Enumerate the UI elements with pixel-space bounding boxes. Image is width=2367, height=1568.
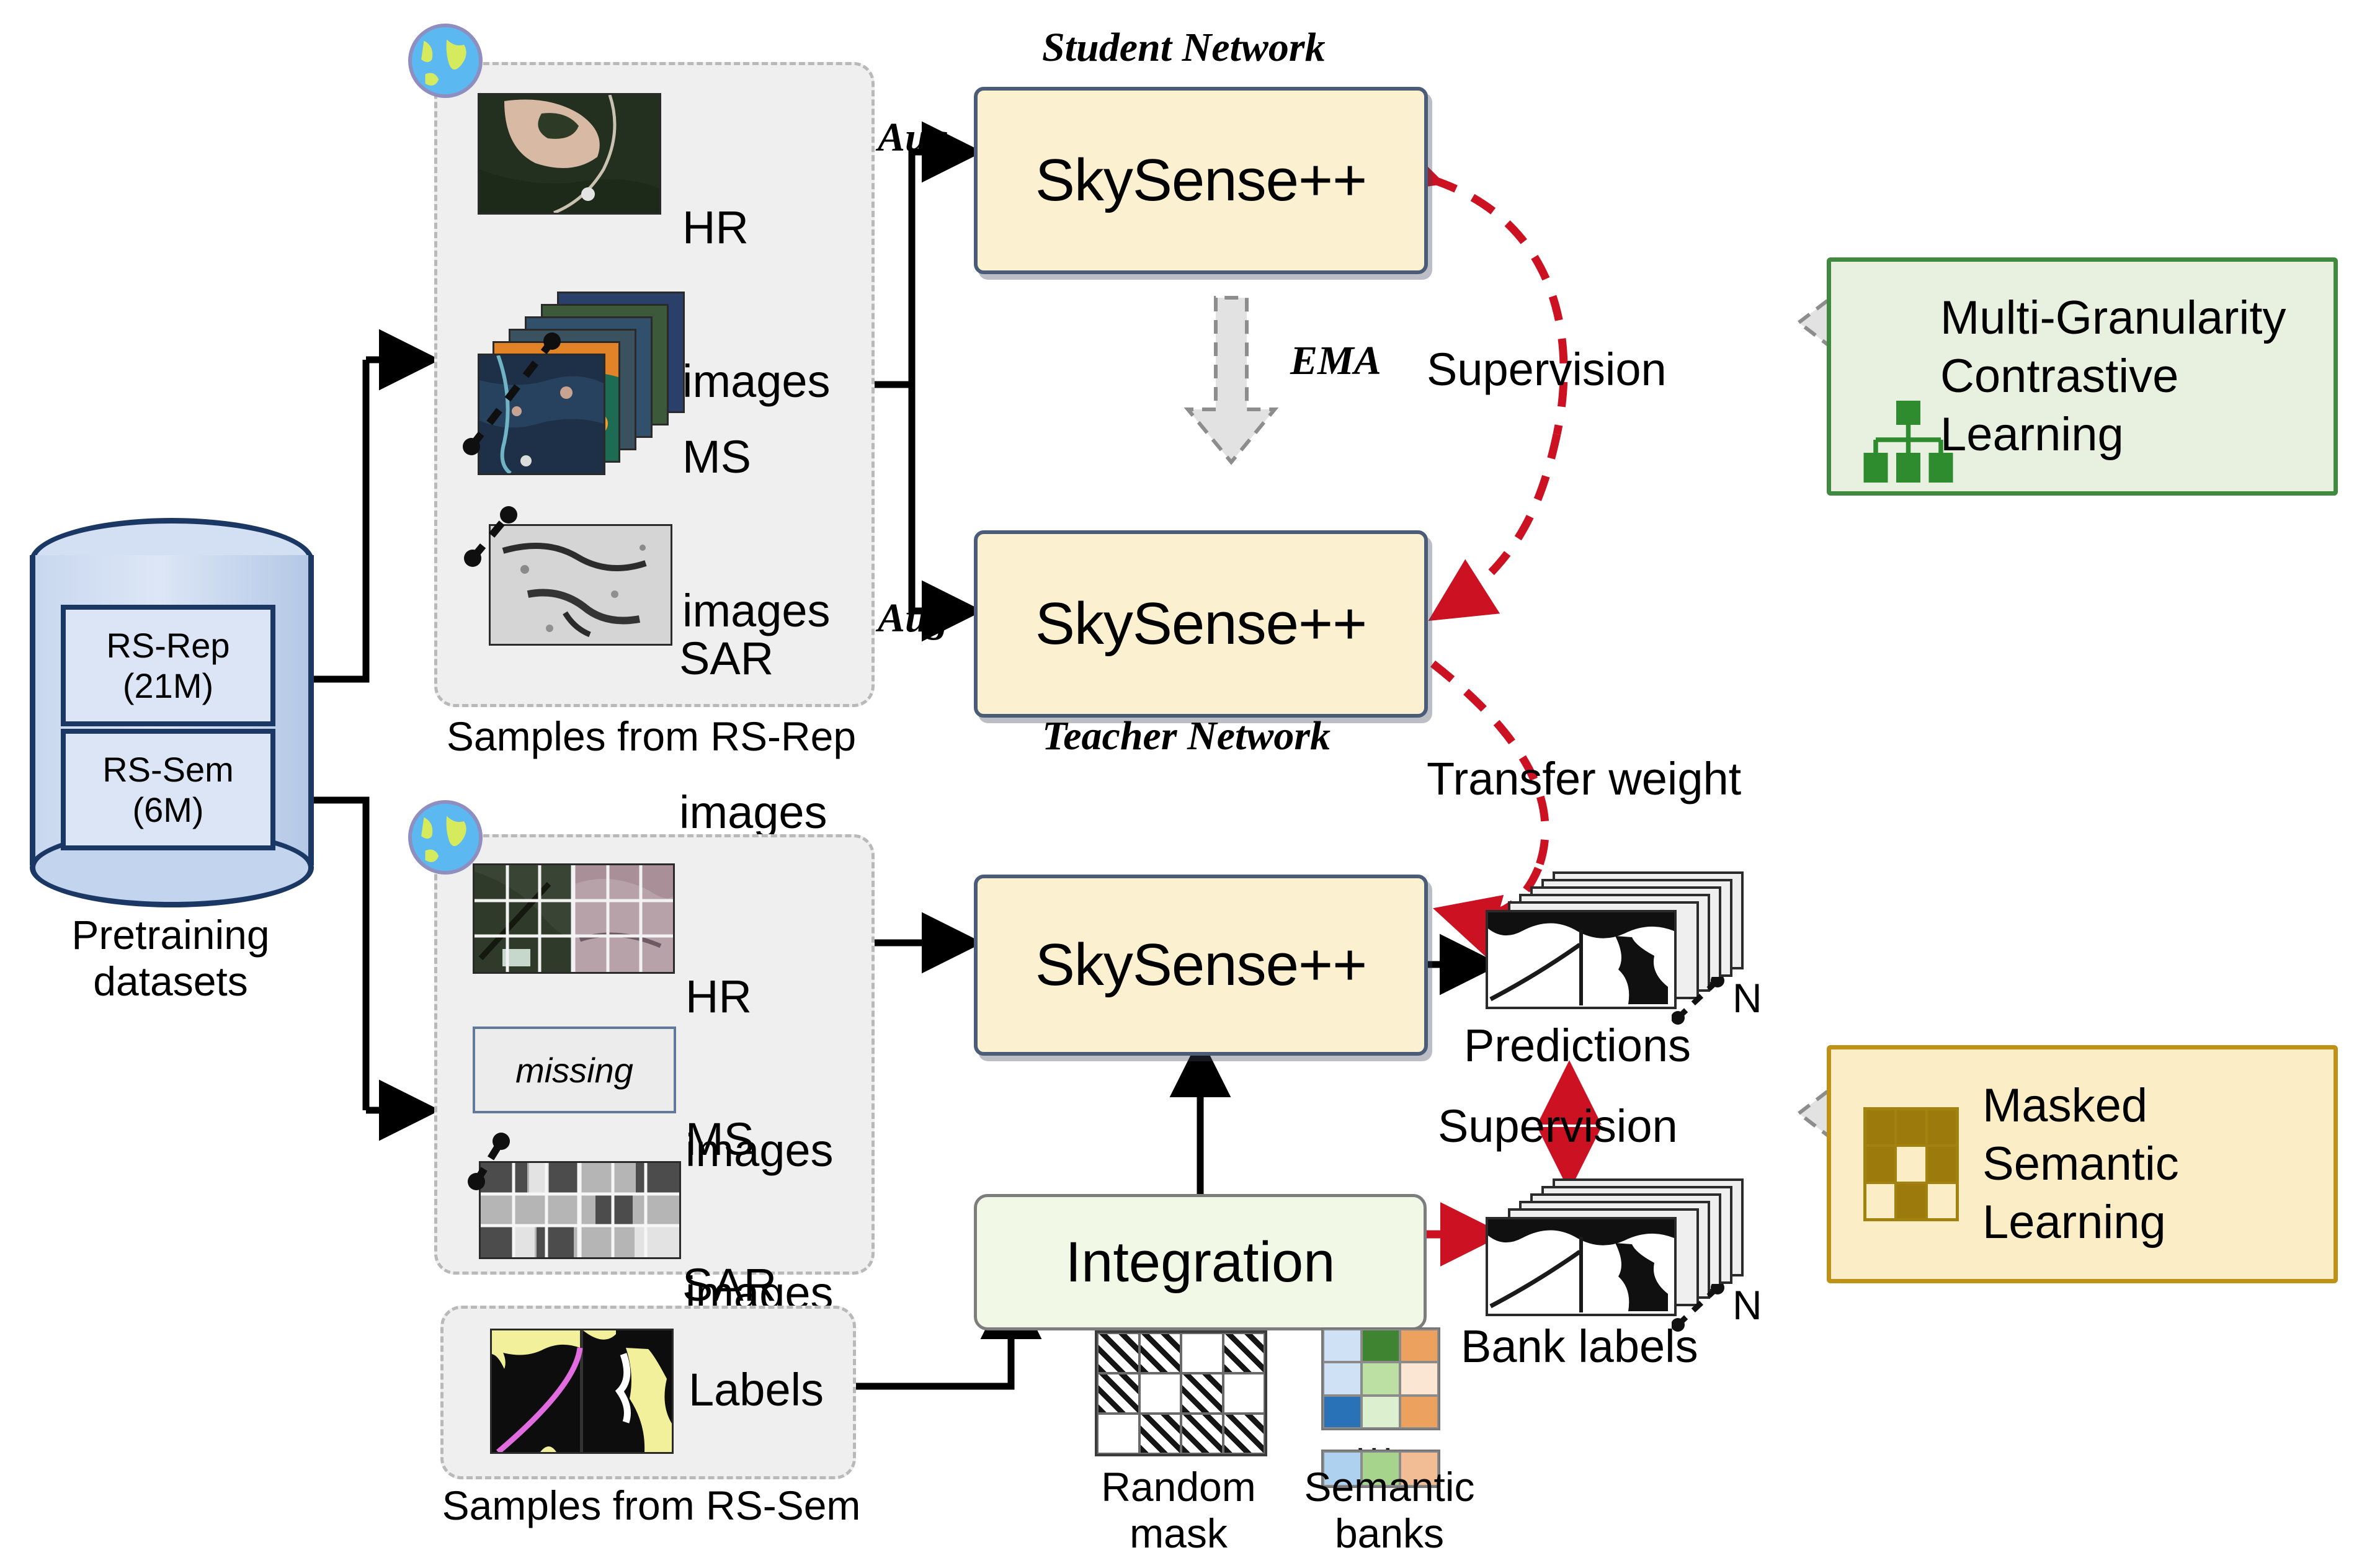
rs-sem-panel-caption: Samples from RS-Sem	[385, 1482, 918, 1529]
transfer-weight-label: Transfer weight	[1427, 754, 1741, 805]
dataset-name: RS-Rep	[106, 625, 230, 666]
dataset-name: RS-Sem	[102, 749, 234, 790]
semantic-banks-icon	[1321, 1327, 1440, 1430]
downstream-network-box[interactable]: SkySense++	[974, 875, 1428, 1056]
contrastive-module-label: Multi-Granularity Contrastive Learning	[1940, 289, 2286, 465]
teacher-box-label: SkySense++	[1035, 590, 1366, 658]
diagram-canvas: RS-Rep (21M) RS-Sem (6M) Pretraining dat…	[0, 0, 2367, 1563]
teacher-network-box[interactable]: SkySense++	[974, 530, 1428, 718]
student-box-label: SkySense++	[1035, 146, 1366, 215]
integration-box[interactable]: Integration	[974, 1194, 1427, 1330]
checkerboard-mask-icon	[1863, 1107, 1959, 1221]
bank-labels-label: Bank labels	[1461, 1321, 1698, 1373]
aug-label-teacher: Aug'	[878, 595, 960, 641]
pretraining-datasets-cylinder: RS-Rep (21M) RS-Sem (6M)	[25, 518, 316, 902]
hierarchy-icon	[1861, 395, 1954, 488]
dataset-segment-rs-rep[interactable]: RS-Rep (21M)	[61, 605, 275, 726]
multi-granularity-contrastive-learning-box[interactable]: Multi-Granularity Contrastive Learning	[1827, 257, 2338, 496]
label-map-thumbnail	[490, 1329, 674, 1454]
aug-label-student: Aug	[878, 115, 948, 161]
predictions-count-marker: N	[1732, 976, 1762, 1022]
integration-label: Integration	[1066, 1230, 1335, 1295]
downstream-box-label: SkySense++	[1035, 931, 1366, 999]
bank-labels-stack: N	[1486, 1178, 1752, 1321]
labels-row-label: Labels	[689, 1365, 824, 1416]
ema-label: EMA	[1290, 338, 1381, 384]
panel-link-dashes	[434, 62, 868, 701]
semantic-banks-caption: Semantic banks	[1265, 1464, 1513, 1557]
student-network-box[interactable]: SkySense++	[974, 87, 1428, 274]
random-mask-icon	[1095, 1330, 1267, 1456]
student-network-title: Student Network	[1042, 25, 1326, 71]
rs-rep-panel-caption: Samples from RS-Rep	[385, 713, 918, 760]
predictions-label: Predictions	[1464, 1020, 1691, 1072]
supervision-label-top: Supervision	[1427, 344, 1667, 396]
predictions-stack: N	[1486, 871, 1752, 1014]
dataset-segment-rs-sem[interactable]: RS-Sem (6M)	[61, 729, 275, 850]
pretraining-datasets-caption: Pretraining datasets	[19, 912, 323, 1005]
panel-link-dashes	[434, 834, 868, 1268]
dataset-size: (21M)	[123, 666, 213, 706]
stack-front-sheet	[1486, 910, 1677, 1009]
supervision-label-bottom: Supervision	[1438, 1101, 1678, 1152]
stack-front-sheet	[1486, 1217, 1677, 1316]
masked-module-label: Masked Semantic Learning	[1982, 1077, 2179, 1252]
teacher-network-title: Teacher Network	[1042, 713, 1331, 759]
masked-semantic-learning-box[interactable]: Masked Semantic Learning	[1827, 1045, 2338, 1283]
bank-labels-count-marker: N	[1732, 1283, 1762, 1329]
dataset-size: (6M)	[132, 790, 203, 830]
